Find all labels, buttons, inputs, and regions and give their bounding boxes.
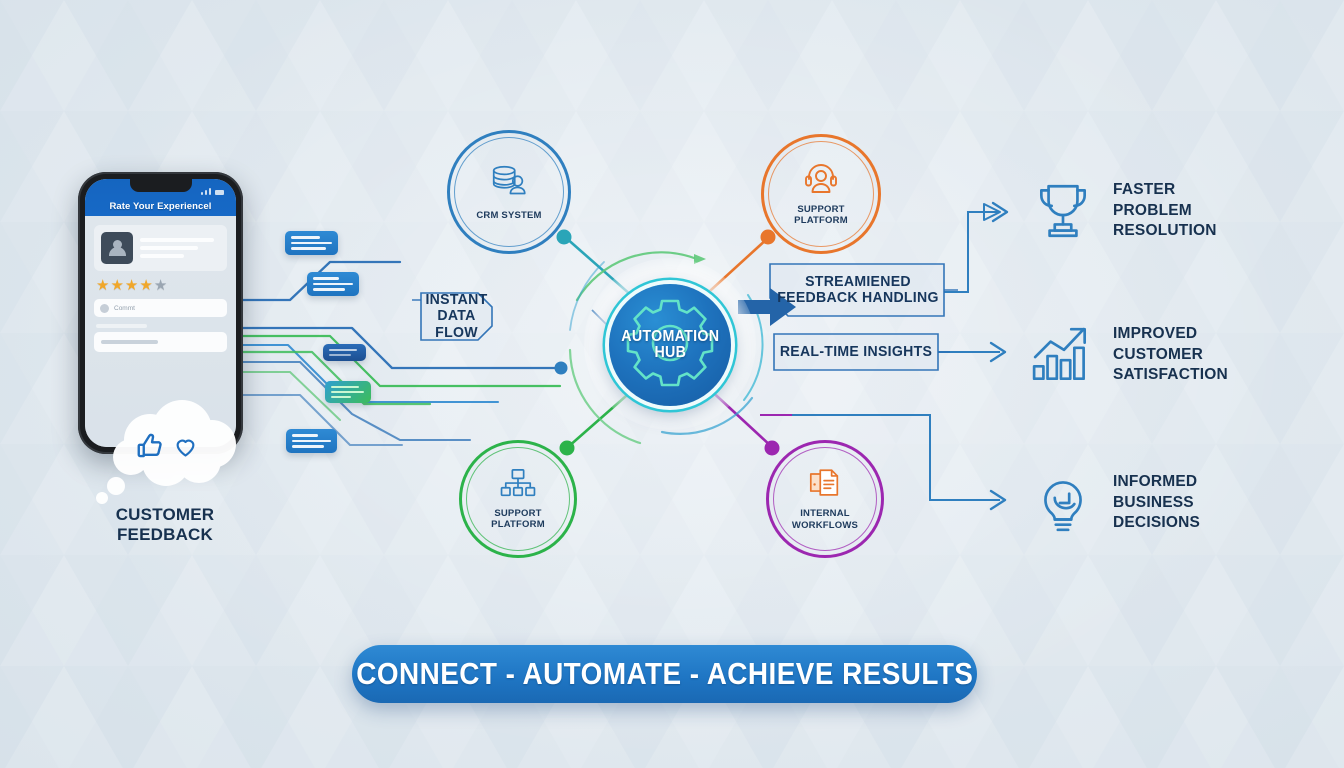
infographic-canvas: Rate Your Experiencel xyxy=(0,0,1344,768)
phone-status-bar xyxy=(201,188,224,195)
bottom-banner[interactable]: CONNECT - AUTOMATE - ACHIEVE RESULTS xyxy=(352,645,977,703)
lightbulb-idea-icon xyxy=(1030,470,1096,536)
outcome-faster-problem-resolution: FASTER PROBLEM RESOLUTION xyxy=(1030,178,1217,244)
thumbs-up-icon xyxy=(135,431,165,461)
node-support-platform-bottom[interactable]: SUPPORTPLATFORM xyxy=(459,440,577,558)
chip-streamlined-feedback-handling[interactable]: STREAMIENED FEEDBACK HANDLING xyxy=(777,264,939,316)
thought-cloud xyxy=(119,415,215,477)
message-card xyxy=(285,231,338,255)
growth-chart-icon xyxy=(1030,323,1096,387)
outcome-improved-customer-satisfaction: IMPROVED CUSTOMER SATISFACTION xyxy=(1030,323,1228,387)
outcome-text: IMPROVED CUSTOMER SATISFACTION xyxy=(1113,324,1228,386)
banner-text: CONNECT - AUTOMATE - ACHIEVE RESULTS xyxy=(356,656,973,692)
automation-hub[interactable]: AUTOMATION HUB xyxy=(609,284,731,406)
message-card xyxy=(323,344,366,361)
node-internal-workflows[interactable]: INTERNALWORKFLOWS xyxy=(766,440,884,558)
outcome-text: FASTER PROBLEM RESOLUTION xyxy=(1113,180,1217,242)
hub-label: AUTOMATION HUB xyxy=(621,329,719,361)
customer-feedback-line2: FEEDBACK xyxy=(60,525,270,545)
node-support-platform-top[interactable]: SUPPORTPLATFORM xyxy=(761,134,881,254)
message-card xyxy=(325,381,371,403)
customer-feedback-label: CUSTOMER FEEDBACK xyxy=(60,505,270,545)
phone-notch xyxy=(130,179,192,192)
customer-feedback-line1: CUSTOMER xyxy=(60,505,270,525)
outcome-informed-business-decisions: INFORMED BUSINESS DECISIONS xyxy=(1030,470,1200,536)
trophy-icon xyxy=(1030,178,1096,244)
message-card xyxy=(286,429,337,453)
outcome-text: INFORMED BUSINESS DECISIONS xyxy=(1113,472,1200,534)
node-crm-system[interactable]: CRM SYSTEM xyxy=(447,130,571,254)
message-card xyxy=(307,272,359,296)
chip-instant-data-flow[interactable]: INSTANT DATA FLOW xyxy=(423,293,490,340)
chip-real-time-insights[interactable]: REAL-TIME INSIGHTS xyxy=(779,334,933,370)
heart-icon xyxy=(172,433,199,460)
